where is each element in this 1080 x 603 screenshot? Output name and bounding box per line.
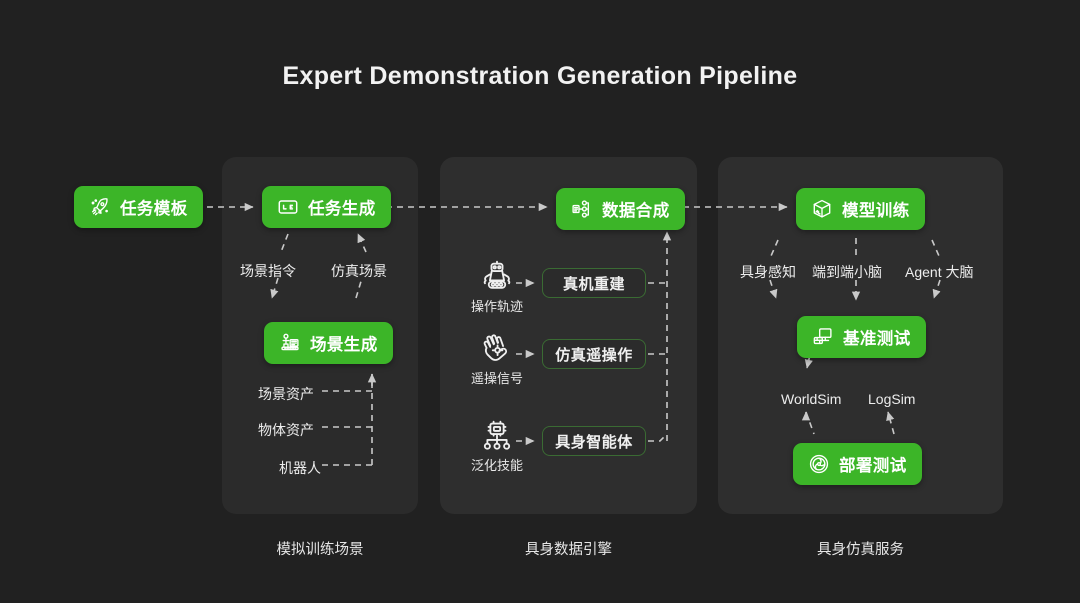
edge-label-scene-assets: 场景资产 — [258, 384, 314, 404]
node-label: 任务模板 — [120, 195, 188, 219]
edge-label-worldsim: WorldSim — [781, 391, 841, 407]
box-sim-teleoperation[interactable]: 仿真遥操作 — [542, 339, 646, 369]
box-label: 仿真遥操作 — [555, 344, 633, 365]
node-task-template[interactable]: 任务模板 — [74, 186, 203, 228]
chip-network-icon — [466, 417, 528, 455]
input-operation-trajectory: 操作轨迹 — [466, 258, 528, 316]
input-label: 操作轨迹 — [471, 299, 523, 314]
rocket-icon — [89, 196, 111, 218]
panel-caption-3: 具身仿真服务 — [718, 538, 1003, 559]
node-scene-generation[interactable]: 场景生成 — [264, 322, 393, 364]
glove-icon — [466, 330, 528, 368]
box-label: 具身智能体 — [555, 431, 633, 452]
box-real-machine-rebuild[interactable]: 真机重建 — [542, 268, 646, 298]
edge-label-logsim: LogSim — [868, 391, 915, 407]
script-window-icon — [277, 196, 299, 218]
edge-label-agent-brain: Agent 大脑 — [905, 262, 973, 282]
input-label: 泛化技能 — [471, 458, 523, 473]
node-label: 数据合成 — [602, 197, 670, 221]
input-teleop-signal: 遥操信号 — [466, 330, 528, 388]
box-embodied-agent[interactable]: 具身智能体 — [542, 426, 646, 456]
robot-icon — [466, 258, 528, 296]
page-title: Expert Demonstration Generation Pipeline — [0, 62, 1080, 91]
node-label: 基准测试 — [843, 325, 911, 349]
node-label: 任务生成 — [308, 195, 376, 219]
input-label: 遥操信号 — [471, 371, 523, 386]
node-label: 场景生成 — [310, 331, 378, 355]
edge-label-simulation-scene: 仿真场景 — [331, 261, 387, 281]
diagram-canvas: Expert Demonstration Generation Pipeline — [0, 0, 1080, 603]
panel-caption-2: 具身数据引擎 — [440, 538, 697, 559]
node-label: 模型训练 — [842, 197, 910, 221]
box-label: 真机重建 — [563, 273, 625, 294]
data-merge-icon — [571, 198, 593, 220]
node-deploy-test[interactable]: 部署测试 — [793, 443, 922, 485]
edge-label-embodied-perception: 具身感知 — [740, 262, 796, 282]
node-task-generation[interactable]: 任务生成 — [262, 186, 391, 228]
edge-label-scene-command: 场景指令 — [240, 261, 296, 281]
edge-label-end-to-end-cerebellum: 端到端小脑 — [812, 262, 882, 282]
panel-caption-1: 模拟训练场景 — [222, 538, 418, 559]
node-model-training[interactable]: 模型训练 — [796, 188, 925, 230]
node-data-synthesis[interactable]: 数据合成 — [556, 188, 685, 230]
circular-swirl-icon — [808, 453, 830, 475]
node-label: 部署测试 — [839, 452, 907, 476]
input-generalization-skill: 泛化技能 — [466, 417, 528, 475]
node-benchmark-test[interactable]: 基准测试 — [797, 316, 926, 358]
edge-label-object-assets: 物体资产 — [258, 420, 314, 440]
worker-conveyor-icon — [279, 332, 301, 354]
cube-loop-icon — [811, 198, 833, 220]
monitor-chart-icon — [812, 326, 834, 348]
edge-label-robot: 机器人 — [279, 458, 321, 478]
